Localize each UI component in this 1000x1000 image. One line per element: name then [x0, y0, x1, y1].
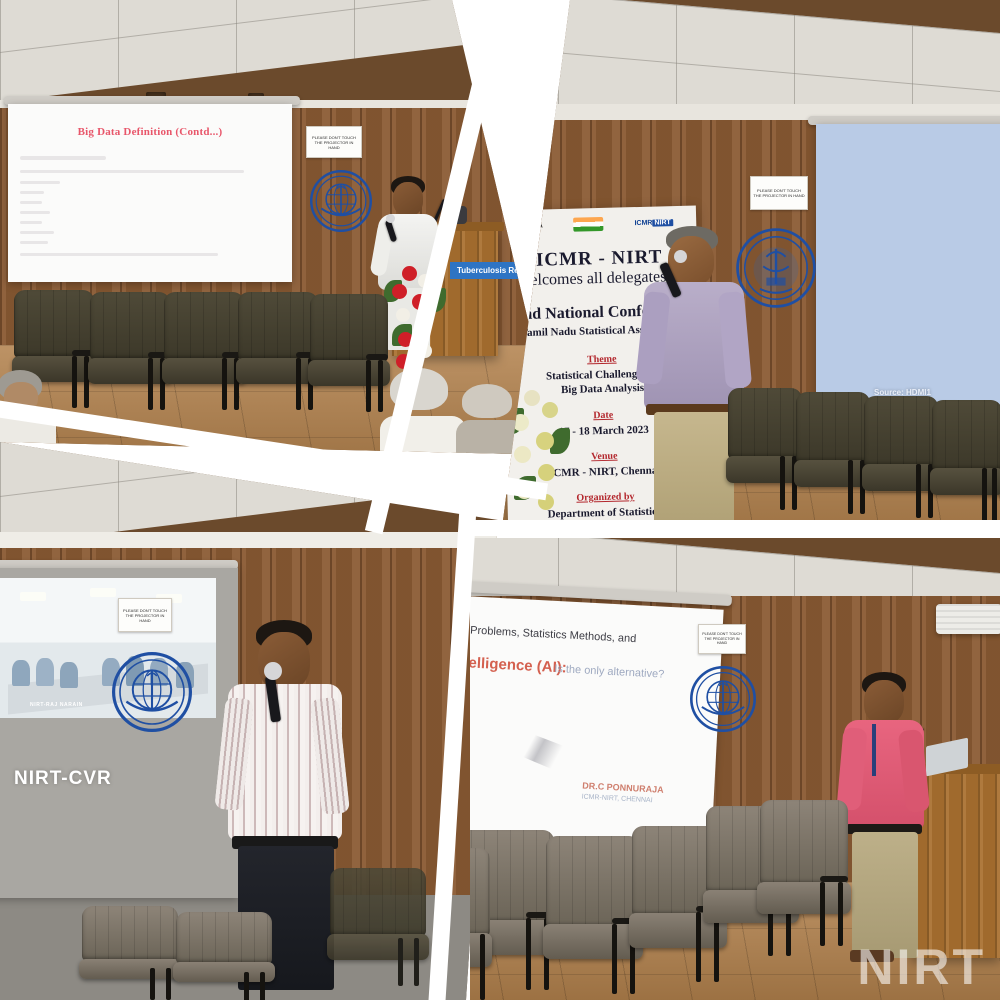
- chair-leg: [848, 460, 853, 514]
- chair-leg: [72, 356, 77, 408]
- chair-back: [864, 396, 938, 467]
- chair-back: [796, 392, 870, 463]
- photo-attendee: [60, 662, 78, 688]
- flower: [418, 344, 432, 358]
- projector-warning-sign: PLEASE DON'T TOUCH THE PROJECTOR IN HAND: [118, 598, 172, 632]
- chair-leg: [992, 468, 997, 522]
- chair-back: [82, 906, 178, 961]
- flower: [418, 274, 432, 288]
- collage-panel-bottom-left: NIRT-RAJ NARAIN NIRT-CVR PLEASE DON'T TO…: [0, 420, 520, 1000]
- chair-seat: [543, 924, 643, 959]
- chair-leg: [366, 360, 371, 412]
- chair-back: [728, 388, 802, 459]
- chair-seat: [757, 882, 850, 914]
- photo-ceiling-lamp: [20, 592, 46, 601]
- projector-warning-sign: PLEASE DON'T TOUCH THE PROJECTOR IN HAND: [750, 176, 808, 210]
- flower: [516, 482, 533, 499]
- chair-leg: [244, 972, 249, 1000]
- flower: [514, 446, 531, 463]
- chair-leg: [612, 924, 617, 994]
- photo-attendee: [36, 658, 54, 686]
- chair-back: [310, 294, 388, 362]
- chair-leg: [296, 358, 301, 410]
- chair-back: [164, 292, 244, 360]
- head: [864, 680, 904, 724]
- who-logo-icon: [690, 666, 756, 732]
- flower: [398, 332, 413, 347]
- flower: [396, 354, 411, 369]
- slide-line: [20, 170, 244, 173]
- podium-banner: Tuberculosis Res: [450, 262, 530, 279]
- flower: [412, 294, 428, 310]
- slide-inner-caption: NIRT-RAJ NARAIN: [30, 702, 83, 708]
- collage-panel-top-right: Source: HDMI1 Searching all sources... P…: [440, 0, 1000, 540]
- chair: [932, 400, 1000, 522]
- chair: [164, 292, 244, 410]
- chair: [728, 388, 802, 510]
- ceiling: [0, 0, 560, 102]
- flower-bouquet: [382, 262, 448, 372]
- chair-leg: [982, 468, 987, 522]
- who-logo-icon: [112, 652, 192, 732]
- audience-person: [380, 368, 466, 460]
- tnsa-logo: TNSA: [524, 222, 543, 229]
- projection-screen: Source: HDMI1 Searching all sources...: [816, 124, 1000, 424]
- flower: [524, 390, 540, 406]
- chair-leg: [222, 358, 227, 410]
- mic-head: [264, 662, 282, 680]
- slide-line-2b: Is the only alternative?: [554, 663, 665, 681]
- projection-screen: Big Data Definition (Contd...): [8, 104, 292, 282]
- chair-leg: [820, 882, 825, 946]
- chair-leg: [838, 882, 843, 946]
- chair: [796, 392, 870, 514]
- amrit-mahotsav-logo-icon: [573, 217, 603, 232]
- flower: [538, 464, 555, 481]
- chair: [760, 800, 848, 946]
- slide-footer-label: NIRT-CVR: [14, 768, 112, 790]
- tnsa-label: TNSA: [524, 222, 543, 229]
- chair-back: [330, 868, 426, 936]
- audience-person: [0, 370, 58, 450]
- chair-back: [14, 290, 94, 358]
- slide-line: [20, 221, 42, 224]
- chair-back: [238, 292, 318, 360]
- slide-title: Big Data Definition (Contd...): [8, 126, 292, 138]
- hair: [390, 368, 448, 410]
- flower: [402, 266, 417, 281]
- chair: [90, 292, 170, 410]
- legs-trousers: [852, 832, 918, 958]
- projector-warning-sign: PLEASE DON'T TOUCH THE PROJECTOR IN HAND: [698, 624, 746, 654]
- head: [393, 182, 423, 216]
- chair-back: [176, 912, 272, 964]
- chair-back: [90, 292, 170, 360]
- slide-presenter-sub: ICMR-NIRT, CHENNAI: [581, 794, 652, 805]
- chair-leg: [916, 464, 921, 518]
- lanyard: [872, 724, 876, 776]
- flower: [538, 494, 554, 510]
- chair: [82, 906, 178, 1000]
- flower: [416, 318, 431, 333]
- chair: [864, 396, 938, 518]
- photo-ceiling-lamp: [90, 588, 116, 597]
- chair: [176, 912, 272, 1000]
- chair-leg: [414, 938, 419, 986]
- legs-trousers: [654, 412, 734, 526]
- who-logo-icon: [310, 170, 372, 232]
- chair-leg: [148, 358, 153, 410]
- shoe: [850, 950, 894, 962]
- slide-line: [20, 253, 218, 256]
- chair: [238, 292, 318, 410]
- flower: [396, 308, 410, 322]
- chair-back: [932, 400, 1000, 471]
- chair-arm: [820, 876, 848, 882]
- speaker-person: [838, 672, 930, 962]
- photo-collage: Big Data Definition (Contd...) PLEASE DO…: [0, 0, 1000, 1000]
- podium-camera: [443, 206, 467, 224]
- mic-head: [674, 250, 687, 263]
- chair: [546, 836, 640, 994]
- hair: [462, 384, 512, 418]
- slide-line-1: Problems, Statistics Methods, and: [470, 624, 710, 649]
- slide-line: [20, 211, 50, 214]
- slide-line: [20, 181, 60, 184]
- mic-head: [386, 214, 395, 223]
- slide-line: [20, 241, 48, 244]
- chair-leg: [696, 912, 701, 982]
- flower: [542, 402, 558, 418]
- slide-line: [20, 231, 54, 234]
- chair-seat: [930, 468, 1000, 495]
- slide-line-2a: elligence (AI):: [468, 654, 567, 676]
- flower: [536, 432, 554, 450]
- chair-back: [760, 800, 848, 885]
- leaf: [428, 288, 446, 312]
- chair: [330, 868, 426, 986]
- collage-panel-bottom-right: Problems, Statistics Methods, and ellige…: [440, 500, 1000, 1000]
- photo-attendee: [12, 660, 30, 686]
- chair: [310, 294, 388, 412]
- collage-panel-top-left: Big Data Definition (Contd...) PLEASE DO…: [0, 0, 560, 470]
- air-conditioner: [936, 604, 1000, 634]
- slide-graphic: [481, 715, 608, 777]
- chair-leg: [260, 972, 265, 1000]
- slide-line: [20, 191, 44, 194]
- flower: [392, 284, 407, 299]
- chair-leg: [480, 934, 485, 1000]
- chair-leg: [398, 938, 403, 986]
- torso: [380, 416, 466, 464]
- chair-leg: [526, 918, 531, 990]
- projector-warning-sign: PLEASE DON'T TOUCH THE PROJECTOR IN HAND: [306, 126, 362, 158]
- chair-leg: [166, 968, 171, 1000]
- chair-back: [546, 836, 640, 928]
- slide-presenter: DR.C PONNURAJA: [582, 781, 664, 795]
- nirt-badge: NIRT: [652, 219, 673, 227]
- slide-line: [20, 201, 42, 204]
- slide-line: [20, 156, 106, 160]
- chair-leg: [150, 968, 155, 1000]
- chair-leg: [780, 456, 785, 510]
